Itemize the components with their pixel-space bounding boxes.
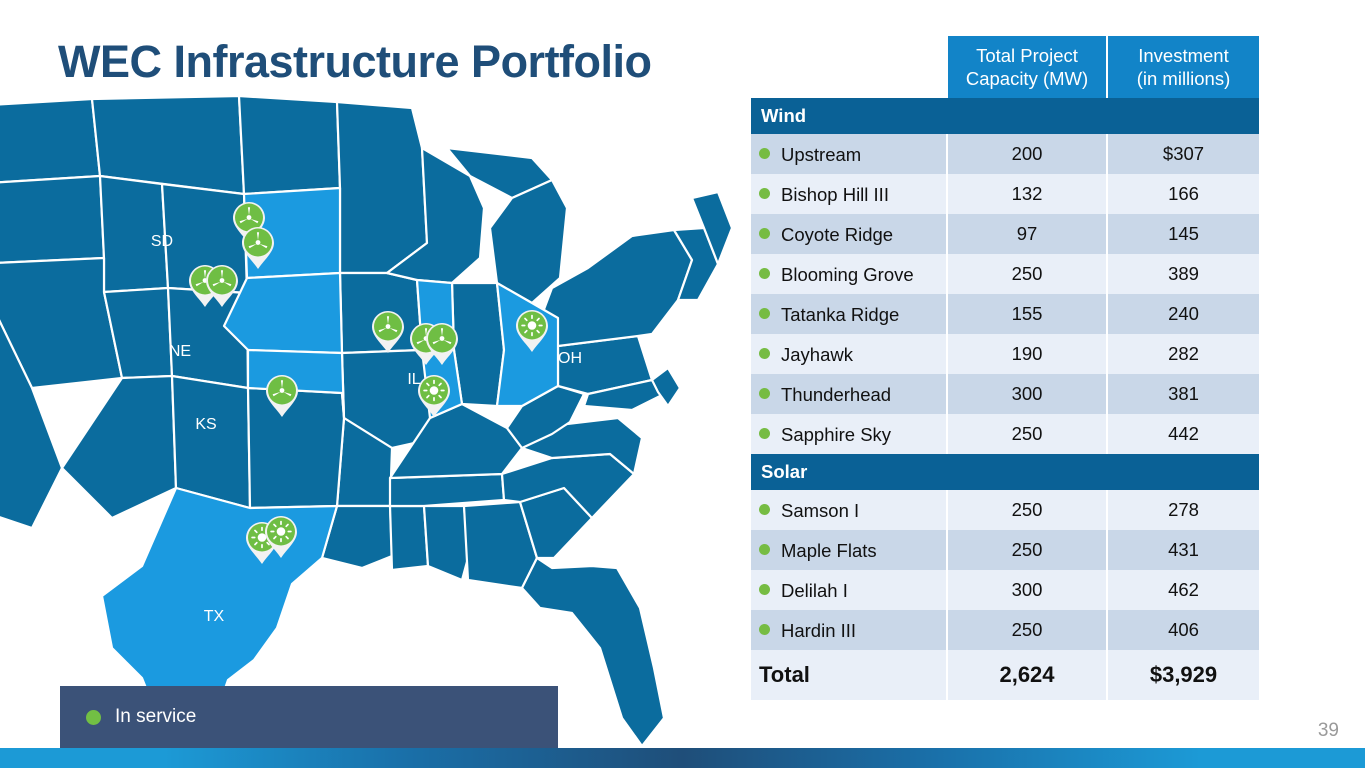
green-dot-icon [759, 228, 770, 239]
green-dot-icon [759, 428, 770, 439]
row-name-cell: Bishop Hill III [751, 174, 947, 214]
table-row[interactable]: Upstream 200 $307 [751, 134, 1259, 174]
row-capacity: 155 [947, 294, 1107, 334]
row-investment: 406 [1107, 610, 1259, 650]
row-label: Blooming Grove [781, 264, 914, 285]
row-name-cell: Thunderhead [751, 374, 947, 414]
row-name-cell: Samson I [751, 490, 947, 530]
green-dot-icon [759, 348, 770, 359]
table-row[interactable]: Bishop Hill III 132 166 [751, 174, 1259, 214]
header-investment-line2: (in millions) [1137, 68, 1231, 89]
green-dot-icon [86, 710, 101, 725]
legend-label: In service [115, 706, 196, 728]
green-dot-icon [759, 188, 770, 199]
row-investment: 166 [1107, 174, 1259, 214]
section-label-solar: Solar [751, 454, 1259, 490]
header-capacity-line1: Total Project [976, 45, 1078, 66]
row-investment: 240 [1107, 294, 1259, 334]
slide-canvas: SD NE KS IL OH TX [0, 0, 1365, 768]
state-label-layer: SD NE KS IL OH TX [0, 88, 752, 748]
row-name-cell: Upstream [751, 134, 947, 174]
portfolio-table: Total Project Capacity (MW) Investment (… [751, 36, 1259, 700]
row-capacity: 200 [947, 134, 1107, 174]
row-investment: $307 [1107, 134, 1259, 174]
row-label: Delilah I [781, 580, 848, 601]
table-row[interactable]: Maple Flats 250 431 [751, 530, 1259, 570]
green-dot-icon [759, 268, 770, 279]
row-capacity: 250 [947, 530, 1107, 570]
table-total-row: Total 2,624 $3,929 [751, 650, 1259, 700]
row-capacity: 97 [947, 214, 1107, 254]
header-capacity: Total Project Capacity (MW) [947, 36, 1107, 98]
row-label: Upstream [781, 144, 861, 165]
row-name-cell: Hardin III [751, 610, 947, 650]
row-capacity: 250 [947, 254, 1107, 294]
row-name-cell: Sapphire Sky [751, 414, 947, 454]
wind-pin[interactable] [371, 310, 405, 354]
table-row[interactable]: Tatanka Ridge 155 240 [751, 294, 1259, 334]
solar-pin[interactable] [264, 515, 298, 559]
header-blank [751, 36, 947, 98]
green-dot-icon [759, 584, 770, 595]
state-label-tx: TX [204, 608, 225, 625]
row-investment: 462 [1107, 570, 1259, 610]
total-label: Total [751, 650, 947, 700]
total-capacity: 2,624 [947, 650, 1107, 700]
state-label-sd: SD [151, 233, 173, 250]
row-name-cell: Jayhawk [751, 334, 947, 374]
row-label: Samson I [781, 500, 859, 521]
header-investment-line1: Investment [1138, 45, 1229, 66]
solar-pin[interactable] [515, 309, 549, 353]
row-investment: 389 [1107, 254, 1259, 294]
table-row[interactable]: Samson I 250 278 [751, 490, 1259, 530]
row-investment: 442 [1107, 414, 1259, 454]
row-investment: 282 [1107, 334, 1259, 374]
row-name-cell: Blooming Grove [751, 254, 947, 294]
green-dot-icon [759, 624, 770, 635]
state-label-oh: OH [558, 350, 582, 367]
row-capacity: 250 [947, 610, 1107, 650]
row-label: Maple Flats [781, 540, 877, 561]
footer-bar [0, 748, 1365, 768]
row-investment: 431 [1107, 530, 1259, 570]
solar-pin[interactable] [417, 374, 451, 418]
section-label-wind: Wind [751, 98, 1259, 134]
row-label: Hardin III [781, 620, 856, 641]
table-row[interactable]: Blooming Grove 250 389 [751, 254, 1259, 294]
row-label: Jayhawk [781, 344, 853, 365]
row-label: Bishop Hill III [781, 184, 889, 205]
row-name-cell: Delilah I [751, 570, 947, 610]
row-label: Sapphire Sky [781, 424, 891, 445]
table-row[interactable]: Delilah I 300 462 [751, 570, 1259, 610]
row-label: Coyote Ridge [781, 224, 893, 245]
table-row[interactable]: Sapphire Sky 250 442 [751, 414, 1259, 454]
row-investment: 381 [1107, 374, 1259, 414]
green-dot-icon [759, 308, 770, 319]
wind-pin[interactable] [241, 226, 275, 270]
table-row[interactable]: Coyote Ridge 97 145 [751, 214, 1259, 254]
green-dot-icon [759, 388, 770, 399]
header-investment: Investment (in millions) [1107, 36, 1259, 98]
section-header-wind: Wind [751, 98, 1259, 134]
wind-pin[interactable] [425, 322, 459, 366]
row-label: Thunderhead [781, 384, 891, 405]
green-dot-icon [759, 148, 770, 159]
total-investment: $3,929 [1107, 650, 1259, 700]
row-capacity: 190 [947, 334, 1107, 374]
row-investment: 278 [1107, 490, 1259, 530]
green-dot-icon [759, 544, 770, 555]
table-header-row: Total Project Capacity (MW) Investment (… [751, 36, 1259, 98]
wind-pin[interactable] [205, 264, 239, 308]
wind-pin[interactable] [265, 374, 299, 418]
row-name-cell: Maple Flats [751, 530, 947, 570]
row-capacity: 250 [947, 490, 1107, 530]
row-capacity: 300 [947, 570, 1107, 610]
row-name-cell: Coyote Ridge [751, 214, 947, 254]
table-row[interactable]: Thunderhead 300 381 [751, 374, 1259, 414]
row-name-cell: Tatanka Ridge [751, 294, 947, 334]
page-number: 39 [1318, 720, 1339, 742]
row-investment: 145 [1107, 214, 1259, 254]
row-capacity: 300 [947, 374, 1107, 414]
table-row[interactable]: Hardin III 250 406 [751, 610, 1259, 650]
legend: In service [60, 686, 558, 748]
row-capacity: 250 [947, 414, 1107, 454]
page-title: WEC Infrastructure Portfolio [58, 36, 652, 88]
state-label-ne: NE [169, 343, 191, 360]
table-row[interactable]: Jayhawk 190 282 [751, 334, 1259, 374]
state-label-ks: KS [195, 416, 216, 433]
row-capacity: 132 [947, 174, 1107, 214]
row-label: Tatanka Ridge [781, 304, 899, 325]
green-dot-icon [759, 504, 770, 515]
header-capacity-line2: Capacity (MW) [966, 68, 1088, 89]
us-map: SD NE KS IL OH TX [0, 88, 752, 748]
section-header-solar: Solar [751, 454, 1259, 490]
